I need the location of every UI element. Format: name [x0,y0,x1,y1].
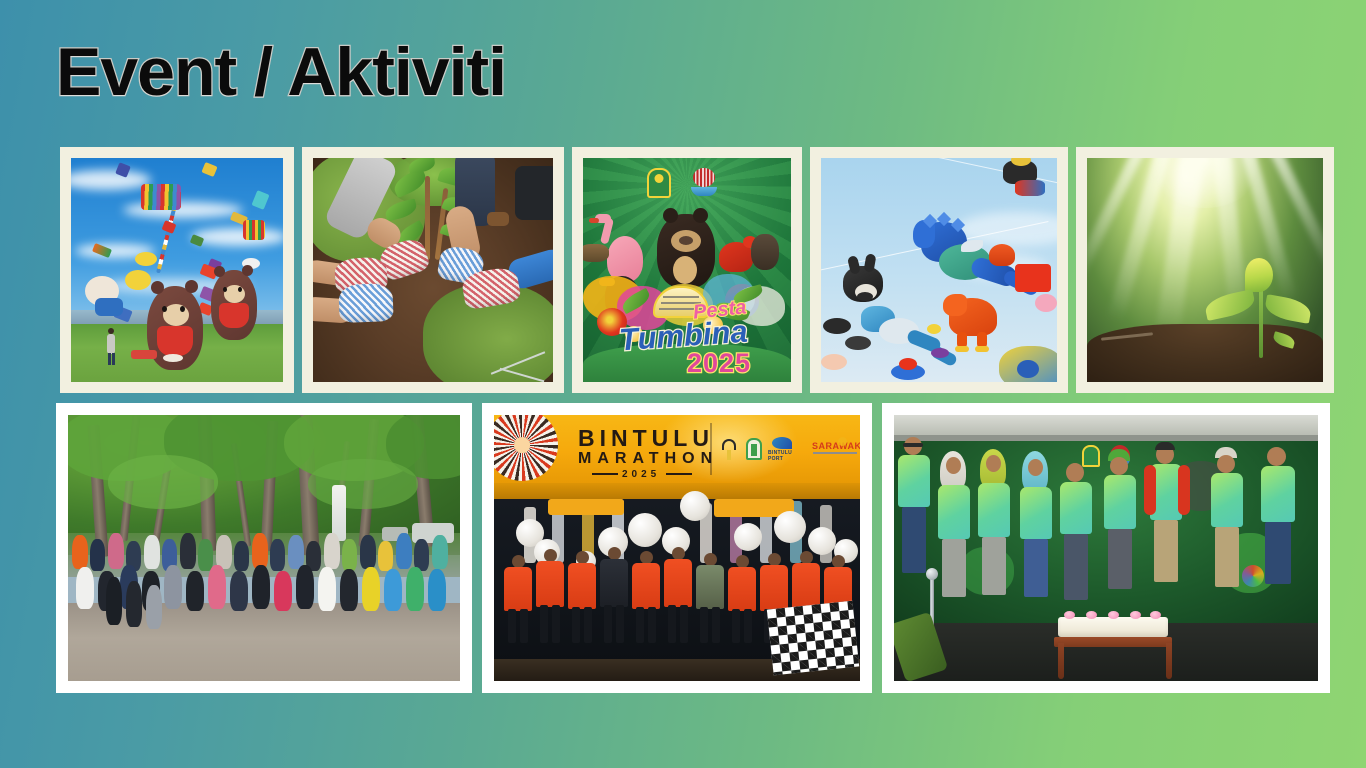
photo-frame-cake-cutting-ceremony[interactable] [882,403,1330,693]
photo-frame-tree-planting-hands[interactable] [302,147,564,393]
sponsor-label-sarawak: SARAWAK [812,441,860,451]
sponsor-logo-emblem [720,439,738,461]
ceremony-table [1054,637,1172,647]
photo-bintulu-marathon-start: BINTULU MARATHON 2025 BINTULU PORT [494,415,860,681]
sponsor-label-bintulu-port: BINTULU PORT [768,450,792,462]
photo-frame-kite-festival-field[interactable] [60,147,294,393]
slide-canvas: Event / Aktiviti [0,0,1366,768]
photo-community-run-group-photo [68,415,460,681]
gallery-row-bottom: BINTULU MARATHON 2025 BINTULU PORT [56,403,1330,693]
photo-frame-community-run-group-photo[interactable] [56,403,472,693]
photo-frame-seedling-in-soil[interactable] [1076,147,1334,393]
page-title: Event / Aktiviti [56,38,506,106]
gallery-row-top: Pesta Tumbina 2025 [60,147,1334,393]
photo-frame-bintulu-marathon-start[interactable]: BINTULU MARATHON 2025 BINTULU PORT [482,403,872,693]
marathon-title-line1: BINTULU [578,427,714,450]
checkered-flag [767,601,859,676]
photo-kite-festival-field [71,158,283,382]
photo-seedling-in-soil [1087,158,1323,382]
ceremony-cake [1058,617,1168,637]
tumbina-logo-shield [647,168,671,198]
sponsor-logo-council [746,438,762,460]
photo-frame-pesta-tumbina-poster[interactable]: Pesta Tumbina 2025 [572,147,802,393]
marathon-title-line3: 2025 [622,470,660,480]
photo-tree-planting-hands [313,158,553,382]
marathon-title-line2: MARATHON [578,451,718,467]
tumbina-logo-globe [691,168,717,199]
photo-cake-cutting-ceremony [894,415,1318,681]
poster-title-line3: 2025 [687,350,751,377]
photo-frame-kites-in-sky[interactable] [810,147,1068,393]
photo-pesta-tumbina-poster: Pesta Tumbina 2025 [583,158,791,382]
backdrop-logo-shield [1082,445,1100,467]
photo-kites-in-sky [821,158,1057,382]
